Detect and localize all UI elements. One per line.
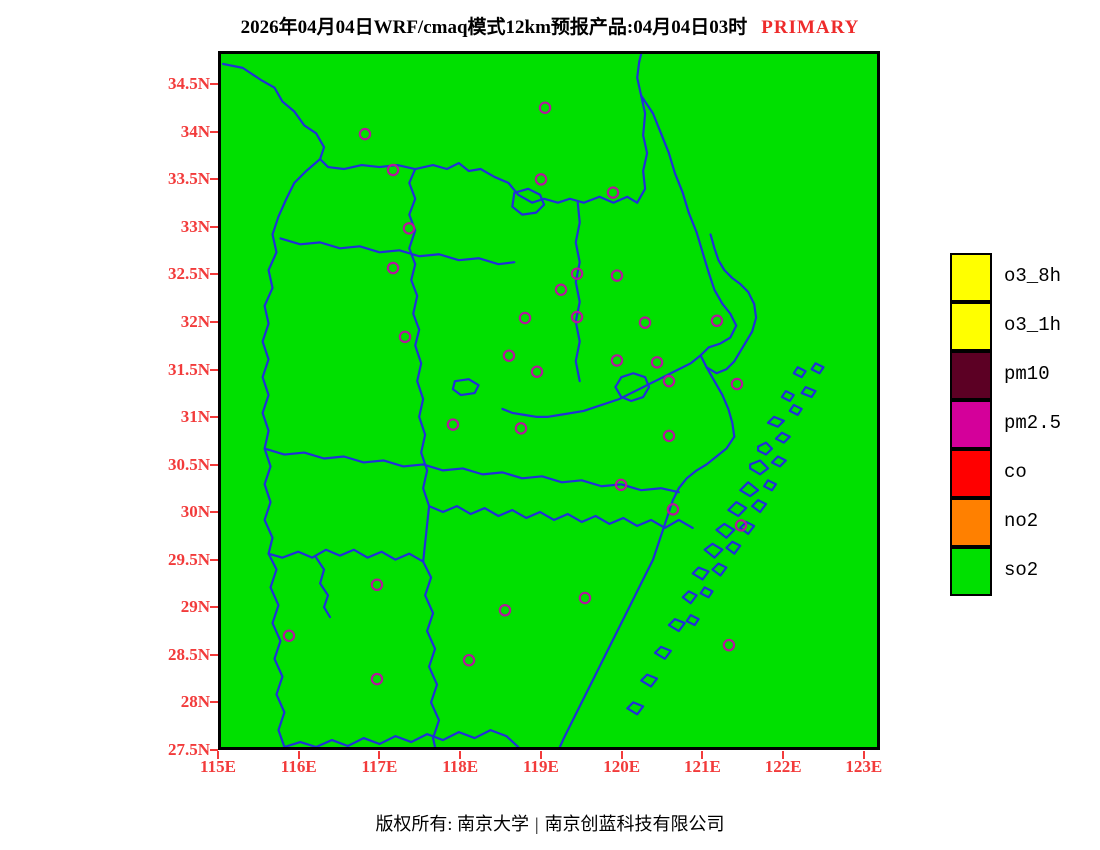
x-axis-tick-mark xyxy=(217,751,219,759)
legend-item-label: pm2.5 xyxy=(1004,414,1061,433)
legend-item-pm2-5[interactable]: pm2.5 xyxy=(950,399,1061,448)
x-axis-tick-mark xyxy=(378,751,380,759)
legend-item-so2[interactable]: so2 xyxy=(950,546,1061,595)
y-axis-tick-label: 28.5N xyxy=(168,645,210,665)
y-axis-tick-label: 34.5N xyxy=(168,74,210,94)
y-axis-tick-label: 33N xyxy=(181,217,210,237)
legend-color-swatch xyxy=(950,547,992,596)
legend-color-swatch xyxy=(950,253,992,302)
legend-item-co[interactable]: co xyxy=(950,448,1061,497)
copyright-footer: 版权所有: 南京大学|南京创蓝科技有限公司 xyxy=(0,810,1100,836)
x-axis-tick-mark xyxy=(540,751,542,759)
legend-color-swatch xyxy=(950,498,992,547)
x-axis-tick-label: 123E xyxy=(845,757,882,777)
y-axis-tick-mark xyxy=(210,654,218,656)
y-axis-tick-label: 32.5N xyxy=(168,264,210,284)
legend-item-label: co xyxy=(1004,463,1027,482)
copyright-company: 南京创蓝科技有限公司 xyxy=(545,814,725,834)
map-plot-frame[interactable] xyxy=(218,51,880,750)
x-axis-tick-label: 119E xyxy=(523,757,559,777)
legend-item-label: so2 xyxy=(1004,561,1038,580)
title-primary-badge: PRIMARY xyxy=(761,17,859,38)
x-axis-tick-mark xyxy=(701,751,703,759)
legend-item-o3-8h[interactable]: o3_8h xyxy=(950,252,1061,301)
copyright-owner: 版权所有: 南京大学 xyxy=(375,814,529,834)
y-axis-tick-mark xyxy=(210,226,218,228)
y-axis-tick-label: 32N xyxy=(181,312,210,332)
x-axis-tick-mark xyxy=(459,751,461,759)
x-axis-tick-mark xyxy=(298,751,300,759)
legend-item-pm10[interactable]: pm10 xyxy=(950,350,1061,399)
x-axis-tick-label: 117E xyxy=(362,757,398,777)
legend-color-swatch xyxy=(950,351,992,400)
y-axis-tick-label: 31N xyxy=(181,407,210,427)
legend-item-no2[interactable]: no2 xyxy=(950,497,1061,546)
y-axis-tick-mark xyxy=(210,701,218,703)
y-axis-tick-mark xyxy=(210,416,218,418)
y-axis-tick-mark xyxy=(210,131,218,133)
x-axis-tick-label: 122E xyxy=(765,757,802,777)
footer-separator: | xyxy=(535,814,539,835)
page-title: 2026年04月04日WRF/cmaq模式12km预报产品:04月04日03时P… xyxy=(0,12,1100,39)
y-axis-tick-label: 30N xyxy=(181,502,210,522)
y-axis-tick-mark xyxy=(210,369,218,371)
y-axis-tick-label: 31.5N xyxy=(168,360,210,380)
map-canvas[interactable] xyxy=(221,54,877,747)
x-axis-tick-label: 120E xyxy=(603,757,640,777)
y-axis-tick-mark xyxy=(210,464,218,466)
x-axis-tick-label: 118E xyxy=(442,757,478,777)
y-axis-tick-mark xyxy=(210,606,218,608)
x-axis-tick-label: 115E xyxy=(200,757,236,777)
y-axis-tick-label: 30.5N xyxy=(168,455,210,475)
x-axis-tick-mark xyxy=(782,751,784,759)
y-axis-tick-mark xyxy=(210,321,218,323)
y-axis-tick-mark xyxy=(210,83,218,85)
y-axis-tick-mark xyxy=(210,273,218,275)
legend-color-swatch xyxy=(950,400,992,449)
pollutant-legend[interactable]: o3_8ho3_1hpm10pm2.5cono2so2 xyxy=(950,252,1061,595)
x-axis-tick-label: 116E xyxy=(281,757,317,777)
y-axis-tick-mark xyxy=(210,559,218,561)
x-axis-tick-mark xyxy=(863,751,865,759)
legend-item-label: no2 xyxy=(1004,512,1038,531)
legend-item-label: o3_1h xyxy=(1004,316,1061,335)
title-main-text: 2026年04月04日WRF/cmaq模式12km预报产品:04月04日03时 xyxy=(241,17,748,38)
legend-item-o3-1h[interactable]: o3_1h xyxy=(950,301,1061,350)
legend-item-label: pm10 xyxy=(1004,365,1050,384)
y-axis-tick-mark xyxy=(210,511,218,513)
x-axis-tick-mark xyxy=(621,751,623,759)
y-axis-tick-mark xyxy=(210,178,218,180)
legend-item-label: o3_8h xyxy=(1004,267,1061,286)
y-axis-tick-label: 28N xyxy=(181,692,210,712)
x-axis-tick-label: 121E xyxy=(684,757,721,777)
y-axis-tick-label: 29N xyxy=(181,597,210,617)
y-axis-tick-label: 34N xyxy=(181,122,210,142)
legend-color-swatch xyxy=(950,449,992,498)
y-axis-tick-label: 29.5N xyxy=(168,550,210,570)
legend-color-swatch xyxy=(950,302,992,351)
y-axis-tick-label: 33.5N xyxy=(168,169,210,189)
